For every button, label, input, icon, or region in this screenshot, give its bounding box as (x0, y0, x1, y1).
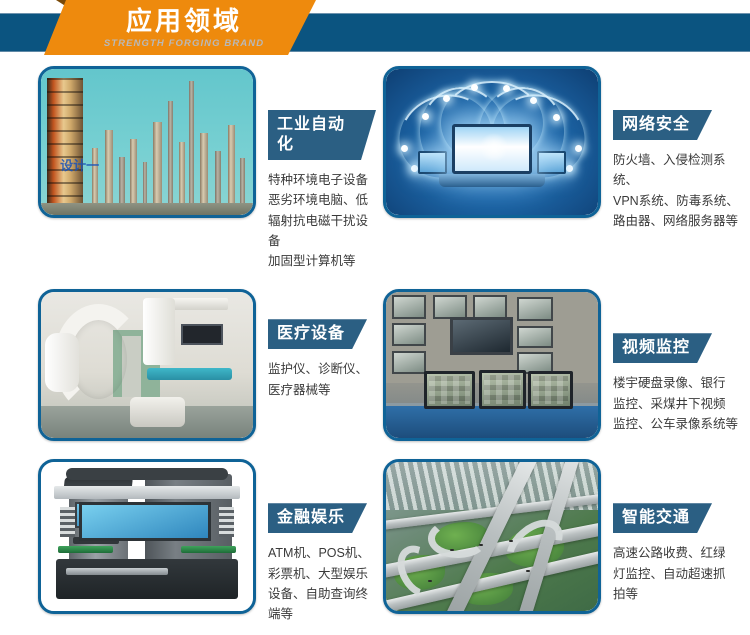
cctv-illustration (386, 292, 598, 438)
card-row: 医疗设备 监护仪、诊断仪、 医疗器械等 (0, 289, 750, 441)
card-thumbnail-finance-entertainment (38, 459, 256, 614)
refinery-illustration: 设计一 (41, 69, 253, 215)
atm-illustration (41, 462, 253, 611)
card-thumbnail-video-surveillance (383, 289, 601, 441)
badge-underline (613, 533, 701, 536)
badge-underline (268, 349, 356, 352)
card-body-industrial-automation: 特种环境电子设备 恶劣环境电脑、低 辐射抗电磁干扰设备 加固型计算机等 (268, 170, 376, 271)
medical-illustration (41, 292, 253, 438)
network-illustration (386, 69, 598, 215)
card-thumbnail-network-security (383, 66, 601, 218)
card-body-finance-entertainment: ATM机、POS机、 彩票机、大型娱乐 设备、自助查询终 端等 (268, 543, 375, 624)
card-text-finance-entertainment: 金融娱乐 ATM机、POS机、 彩票机、大型娱乐 设备、自助查询终 端等 (256, 459, 375, 624)
card-title-network-security: 网络安全 (613, 110, 712, 140)
page-header-banner: 应用领域 STRENGTH FORGING BRAND (0, 0, 750, 58)
image-watermark: 设计一 (60, 155, 99, 174)
card-title-finance-entertainment: 金融娱乐 (268, 503, 367, 533)
card-network-security[interactable]: 网络安全 防火墙、入侵检测系统、 VPN系统、防毒系统、 路由器、网络服务器等 (375, 66, 750, 231)
card-row: 设计一 工业自动化 特种环境电子设备 恶劣环境电脑、低 辐射抗电磁干扰设备 加固… (0, 66, 750, 271)
highway-illustration (386, 462, 598, 611)
card-body-network-security: 防火墙、入侵检测系统、 VPN系统、防毒系统、 路由器、网络服务器等 (613, 150, 749, 231)
card-body-medical-equipment: 监护仪、诊断仪、 医疗器械等 (268, 359, 375, 400)
card-body-video-surveillance: 楼宇硬盘录像、银行 监控、采煤井下视频 监控、公车录像系统等 (613, 373, 749, 434)
card-thumbnail-medical-equipment (38, 289, 256, 441)
card-intelligent-transport[interactable]: 智能交通 高速公路收费、红绿 灯监控、自动超速抓 拍等 (375, 459, 750, 614)
card-finance-entertainment[interactable]: 金融娱乐 ATM机、POS机、 彩票机、大型娱乐 设备、自助查询终 端等 (0, 459, 375, 624)
card-video-surveillance[interactable]: 视频监控 楼宇硬盘录像、银行 监控、采煤井下视频 监控、公车录像系统等 (375, 289, 750, 441)
card-row: 金融娱乐 ATM机、POS机、 彩票机、大型娱乐 设备、自助查询终 端等 (0, 459, 750, 624)
application-fields-grid: 设计一 工业自动化 特种环境电子设备 恶劣环境电脑、低 辐射抗电磁干扰设备 加固… (0, 58, 750, 624)
badge-underline (268, 160, 376, 163)
card-title-intelligent-transport: 智能交通 (613, 503, 712, 533)
badge-underline (613, 140, 701, 143)
card-body-intelligent-transport: 高速公路收费、红绿 灯监控、自动超速抓 拍等 (613, 543, 749, 604)
page-subtitle: STRENGTH FORGING BRAND (104, 38, 264, 49)
card-title-medical-equipment: 医疗设备 (268, 319, 367, 349)
card-text-intelligent-transport: 智能交通 高速公路收费、红绿 灯监控、自动超速抓 拍等 (601, 459, 750, 604)
card-text-video-surveillance: 视频监控 楼宇硬盘录像、银行 监控、采煤井下视频 监控、公车录像系统等 (601, 289, 750, 434)
banner-orange-ribbon: 应用领域 STRENGTH FORGING BRAND (44, 0, 316, 55)
card-thumbnail-intelligent-transport (383, 459, 601, 614)
card-medical-equipment[interactable]: 医疗设备 监护仪、诊断仪、 医疗器械等 (0, 289, 375, 441)
card-title-video-surveillance: 视频监控 (613, 333, 712, 363)
page-title: 应用领域 (126, 8, 242, 35)
card-text-medical-equipment: 医疗设备 监护仪、诊断仪、 医疗器械等 (256, 289, 375, 400)
card-industrial-automation[interactable]: 设计一 工业自动化 特种环境电子设备 恶劣环境电脑、低 辐射抗电磁干扰设备 加固… (0, 66, 375, 271)
badge-underline (613, 363, 701, 366)
badge-underline (268, 533, 356, 536)
card-text-network-security: 网络安全 防火墙、入侵检测系统、 VPN系统、防毒系统、 路由器、网络服务器等 (601, 66, 750, 231)
card-thumbnail-industrial-automation: 设计一 (38, 66, 256, 218)
card-title-industrial-automation: 工业自动化 (268, 110, 376, 160)
card-text-industrial-automation: 工业自动化 特种环境电子设备 恶劣环境电脑、低 辐射抗电磁干扰设备 加固型计算机… (256, 66, 376, 271)
